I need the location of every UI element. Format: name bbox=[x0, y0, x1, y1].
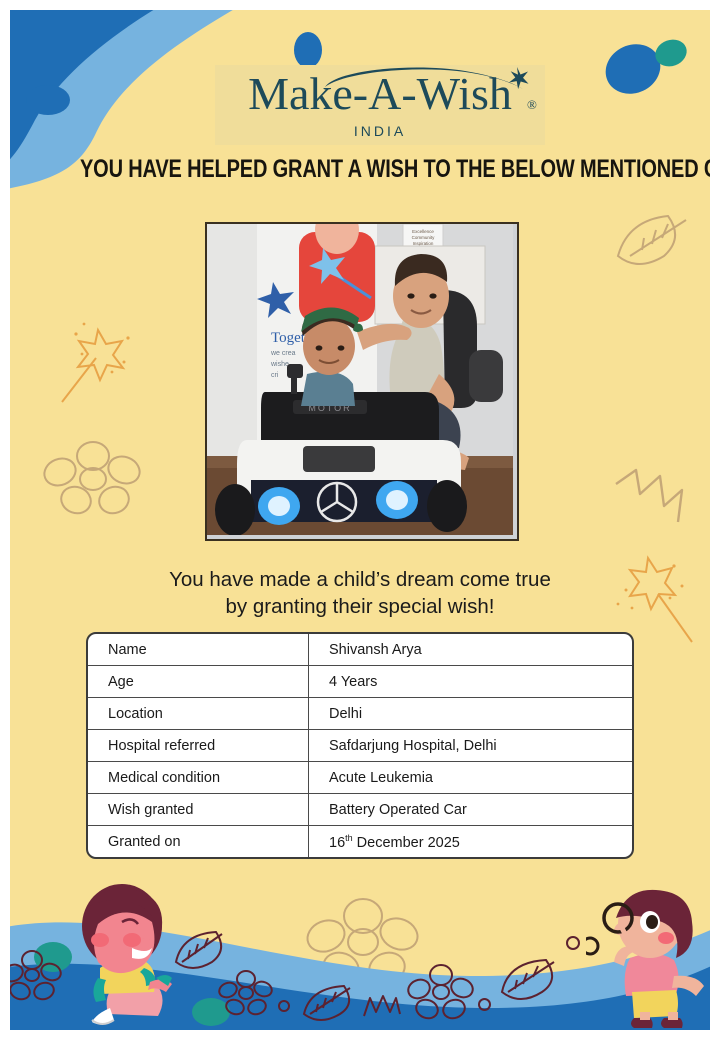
subtitle-line-1: You have made a child’s dream come true bbox=[10, 566, 710, 593]
wand-doodle-left bbox=[52, 310, 142, 410]
leaf-doodle-near-girl bbox=[170, 928, 230, 972]
detail-value: 4 Years bbox=[309, 666, 633, 698]
boy-character-illustration bbox=[586, 888, 710, 1030]
detail-value: Safdarjung Hospital, Delhi bbox=[309, 730, 633, 762]
zigzag-doodle-bottom bbox=[362, 992, 402, 1018]
make-a-wish-logo: Make-A-Wish ® INDIA bbox=[215, 65, 545, 145]
detail-value: Shivansh Arya bbox=[309, 634, 633, 666]
detail-value: Battery Operated Car bbox=[309, 794, 633, 826]
wish-details-table: Name Shivansh Arya Age 4 Years Location … bbox=[86, 632, 634, 859]
table-row: Medical condition Acute Leukemia bbox=[88, 762, 632, 794]
leaf-doodle-right bbox=[608, 208, 698, 278]
wish-photo: Excellence Community Inspiration Togeth … bbox=[205, 222, 519, 541]
certificate-page: Make-A-Wish ® INDIA YOU HAVE HELPED GRAN… bbox=[10, 10, 710, 1030]
flower-doodle-left bbox=[38, 438, 148, 518]
svg-text:wishe: wishe bbox=[270, 361, 289, 368]
detail-label: Medical condition bbox=[88, 762, 309, 794]
detail-label: Granted on bbox=[88, 826, 309, 858]
bottom-dot-2 bbox=[478, 998, 491, 1011]
svg-text:cri: cri bbox=[271, 372, 279, 379]
top-blue-dot bbox=[294, 32, 322, 68]
svg-text:Community: Community bbox=[412, 235, 436, 240]
svg-text:Inspiration: Inspiration bbox=[413, 241, 434, 246]
table-row-granted-on: Granted on 16th December 2025 bbox=[88, 826, 632, 858]
bottom-teal-dot-2 bbox=[192, 998, 230, 1026]
leaf-doodle-bottom-2 bbox=[298, 982, 358, 1026]
zigzag-doodle-right bbox=[614, 466, 706, 536]
subtitle-line-2: by granting their special wish! bbox=[10, 593, 710, 620]
bottom-dot-3 bbox=[566, 936, 580, 950]
detail-label: Name bbox=[88, 634, 309, 666]
page-title: YOU HAVE HELPED GRANT A WISH TO THE BELO… bbox=[80, 155, 640, 184]
granted-ordinal: th bbox=[345, 833, 353, 843]
table-row: Age 4 Years bbox=[88, 666, 632, 698]
granted-day: 16 bbox=[329, 834, 345, 850]
table-row: Name Shivansh Arya bbox=[88, 634, 632, 666]
bottom-teal-dot-1 bbox=[34, 942, 72, 972]
detail-value: Acute Leukemia bbox=[309, 762, 633, 794]
table-row: Location Delhi bbox=[88, 698, 632, 730]
detail-value-granted-on: 16th December 2025 bbox=[309, 826, 633, 858]
subtitle: You have made a child’s dream come true … bbox=[10, 566, 710, 620]
bottom-wave-decoration bbox=[10, 856, 710, 1030]
flower-doodle-bottom-center bbox=[406, 962, 476, 1024]
logo-text: Make-A-Wish bbox=[248, 68, 512, 119]
detail-value: Delhi bbox=[309, 698, 633, 730]
table-row: Hospital referred Safdarjung Hospital, D… bbox=[88, 730, 632, 762]
svg-text:we crea: we crea bbox=[270, 350, 296, 357]
granted-rest: December 2025 bbox=[353, 834, 460, 850]
photo-illustration-icon: Excellence Community Inspiration Togeth … bbox=[207, 224, 513, 535]
logo-registered-icon: ® bbox=[527, 97, 537, 112]
svg-text:Excellence: Excellence bbox=[412, 229, 434, 234]
detail-label: Hospital referred bbox=[88, 730, 309, 762]
table-row: Wish granted Battery Operated Car bbox=[88, 794, 632, 826]
detail-label: Age bbox=[88, 666, 309, 698]
detail-label: Location bbox=[88, 698, 309, 730]
bottom-dot-4 bbox=[96, 978, 109, 991]
bottom-dot-1 bbox=[278, 1000, 290, 1012]
logo-wordmark-icon: Make-A-Wish ® bbox=[217, 65, 543, 125]
leaf-doodle-bottom-3 bbox=[496, 956, 562, 1004]
detail-label: Wish granted bbox=[88, 794, 309, 826]
flower-doodle-bottom-center-large bbox=[298, 894, 428, 994]
logo-country-label: INDIA bbox=[354, 123, 406, 139]
